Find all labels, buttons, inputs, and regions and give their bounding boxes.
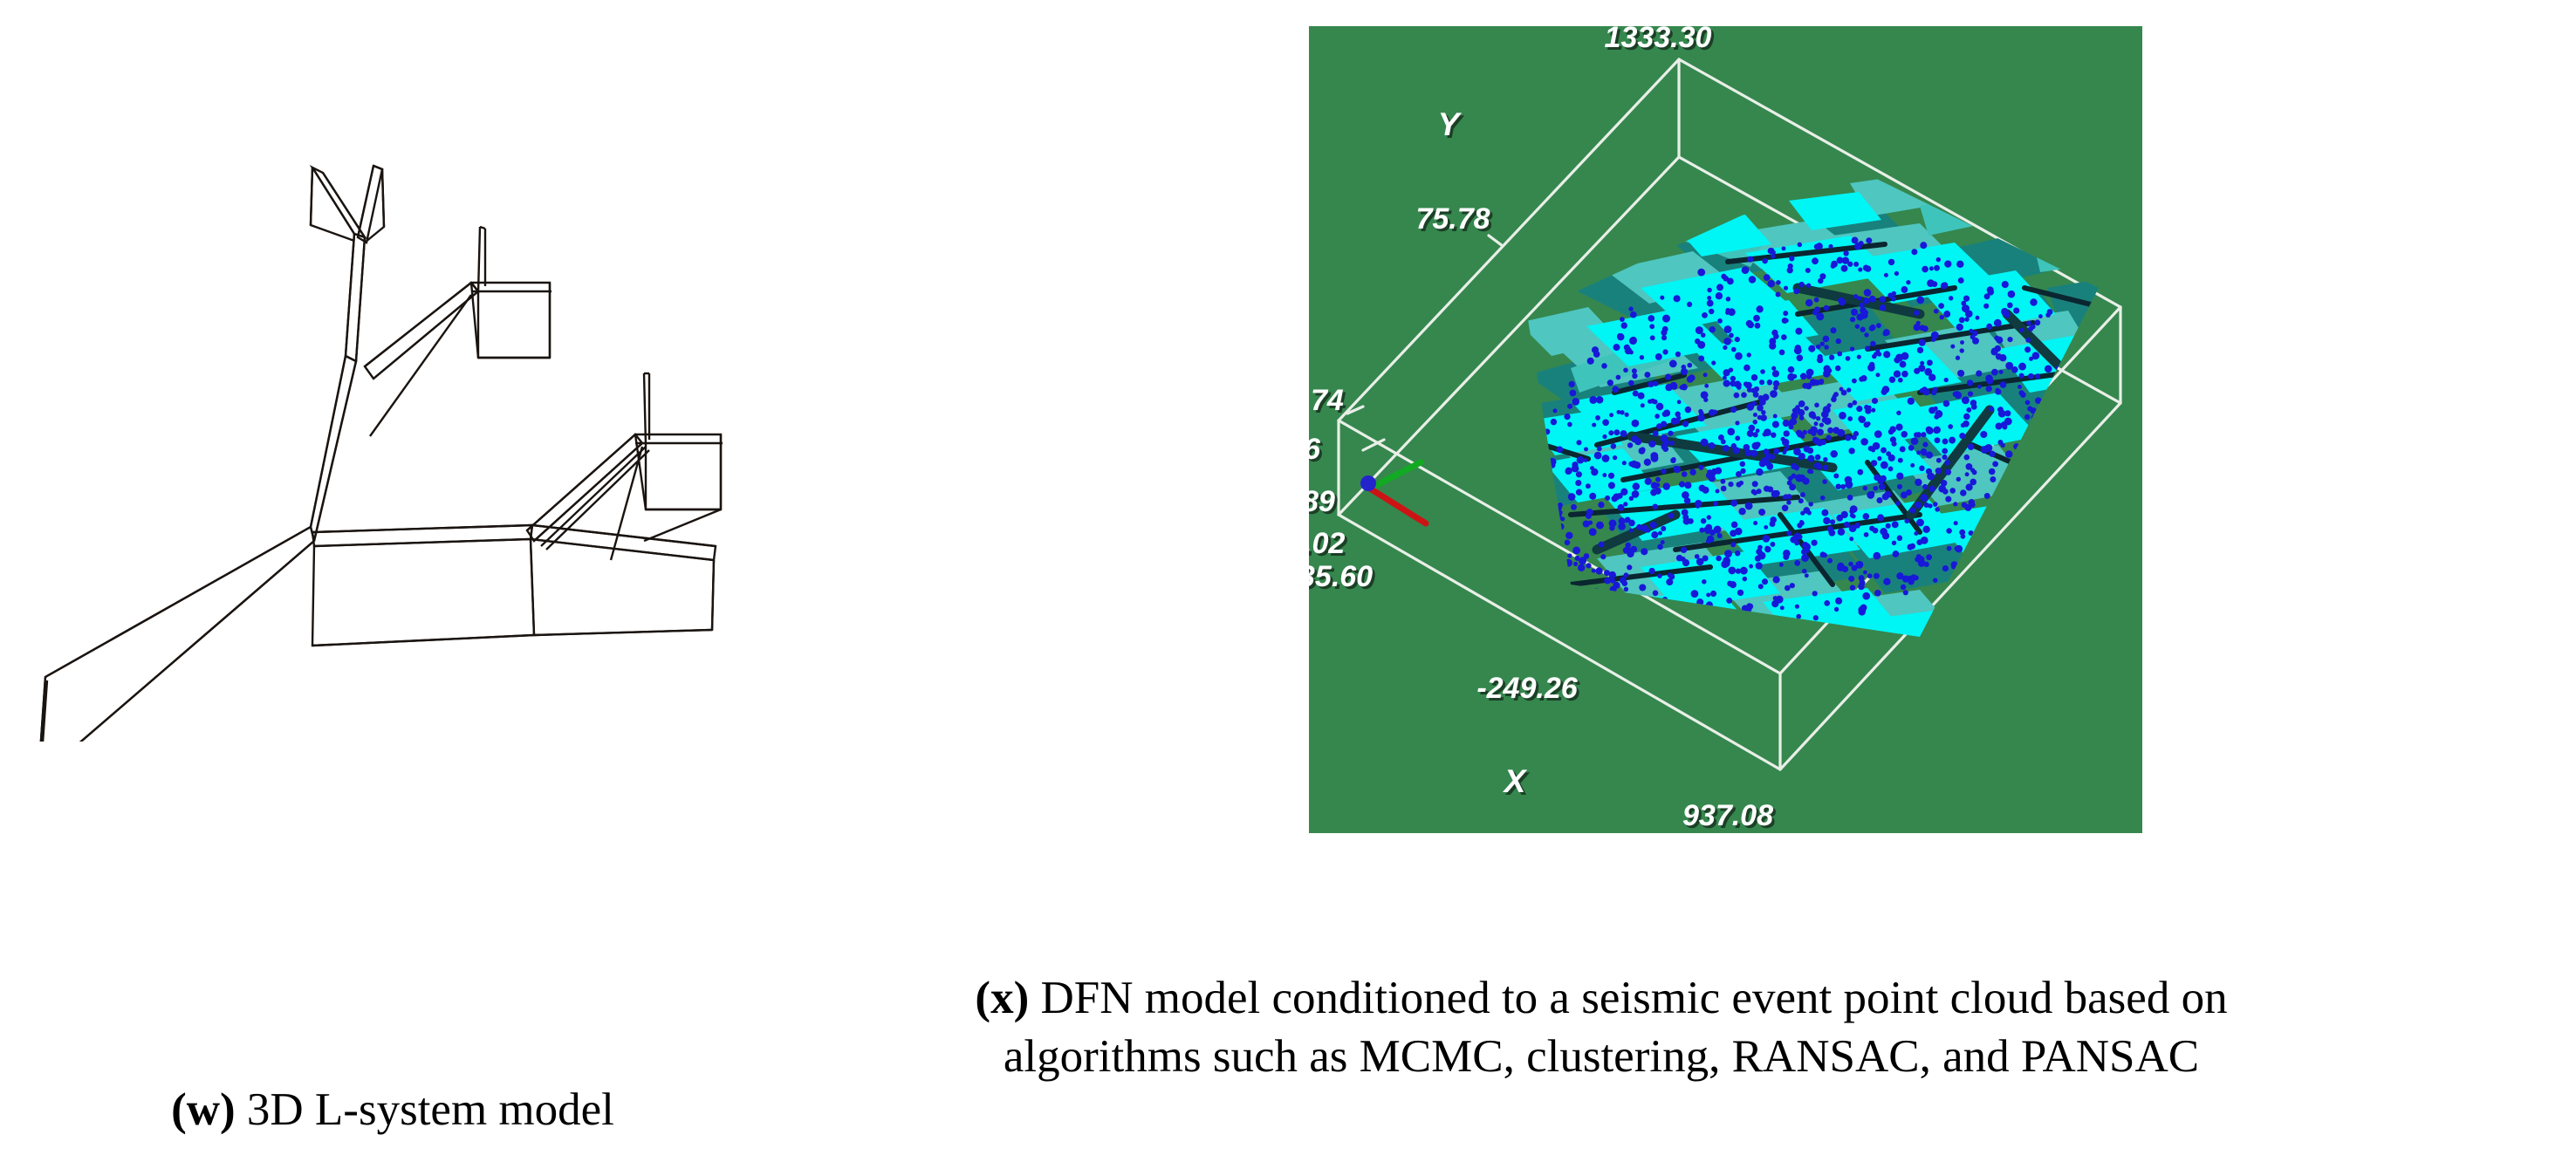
lsystem-mid-branch-right	[531, 525, 716, 635]
lsystem-trunk-base	[38, 527, 314, 742]
dfn-3d-scene: 1333.30 Y 75.78 74 6 89 .02 35.60 -249.2…	[1309, 26, 2142, 833]
lsystem-trunk-upper	[346, 234, 365, 361]
caption-w-text: 3D L-system model	[236, 1084, 614, 1135]
lsystem-branch-upper-right-box	[471, 227, 552, 358]
x-axis-arrow	[1370, 489, 1426, 523]
label-z-1: 74	[1311, 384, 1344, 417]
label-y-tick: 75.78	[1415, 202, 1490, 236]
origin-marker	[1360, 475, 1376, 491]
label-x-max: 937.08	[1682, 799, 1773, 832]
caption-sub-figure-x: (x) DFN model conditioned to a seismic e…	[881, 911, 2321, 1086]
lsystem-branch-lower-right-box	[635, 373, 723, 541]
label-x-tick: -249.26	[1476, 672, 1578, 705]
caption-sub-figure-w: (w) 3D L-system model	[0, 1022, 785, 1139]
sub-figure-w	[0, 0, 873, 925]
lsystem-trunk-mid	[311, 356, 356, 541]
lsystem-branch-lower-right-arm	[527, 434, 649, 560]
label-x-axis-name: X	[1503, 763, 1528, 799]
label-z-5: 35.60	[1309, 560, 1373, 593]
axes-triad	[1360, 462, 1426, 523]
label-y-axis-name: Y	[1438, 106, 1463, 142]
label-z-3: 89	[1309, 485, 1335, 518]
dfn-fracture-cluster	[1501, 171, 2133, 689]
lsystem-top-fork-left	[311, 167, 365, 241]
lsystem-wireframe-drawing	[0, 131, 785, 742]
label-z-2: 6	[1309, 433, 1321, 466]
caption-x-text: DFN model conditioned to a seismic event…	[1004, 973, 2228, 1082]
dfn-3d-viewport[interactable]: 1333.30 Y 75.78 74 6 89 .02 35.60 -249.2…	[1309, 26, 2142, 833]
lsystem-branch-upper-right-arm	[365, 283, 478, 436]
label-y-max: 1333.30	[1605, 26, 1712, 54]
label-z-4: .02	[1309, 527, 1345, 560]
lsystem-mid-branch-left	[312, 525, 534, 646]
caption-x-tag: (x)	[975, 973, 1029, 1023]
sub-figure-x: 1333.30 Y 75.78 74 6 89 .02 35.60 -249.2…	[1309, 26, 2142, 833]
caption-w-tag: (w)	[171, 1084, 236, 1135]
